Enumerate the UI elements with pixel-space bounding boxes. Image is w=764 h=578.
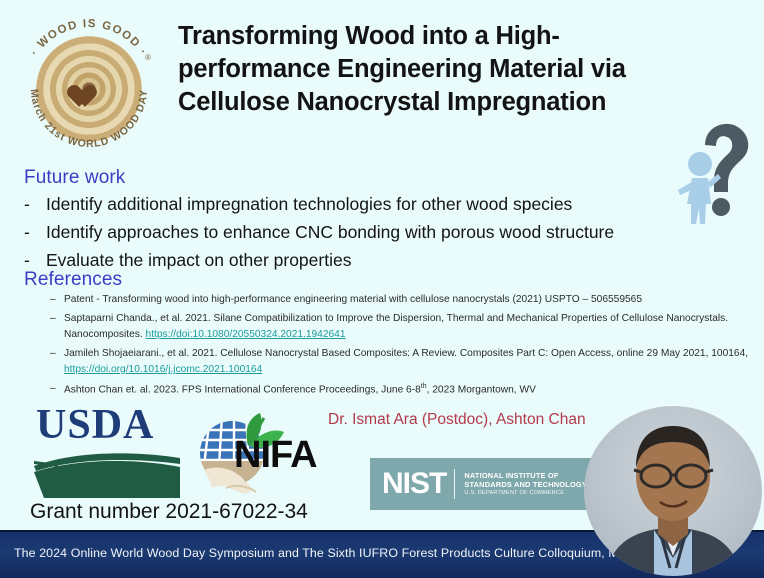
reference-item: – Jamileh Shojaeiarani., et al. 2021. Ce… <box>50 346 750 379</box>
nifa-logo: NIFA <box>186 408 318 502</box>
nist-line2: STANDARDS AND TECHNOLOGY <box>464 480 587 490</box>
future-work-item-label: Identify additional impregnation technol… <box>46 191 714 218</box>
bullet-marker: – <box>50 292 64 309</box>
bullet-marker: – <box>50 381 64 399</box>
reference-item: – Ashton Chan et. al. 2023. FPS Internat… <box>50 381 750 399</box>
nifa-wordmark: NIFA <box>234 436 317 474</box>
future-work-item: - Identify approaches to enhance CNC bon… <box>24 219 714 246</box>
grant-number: Grant number 2021-67022-34 <box>30 500 308 524</box>
nist-divider <box>454 469 455 499</box>
figure-head <box>688 152 712 176</box>
nist-wordmark: NIST <box>382 469 446 499</box>
svg-text:· WOOD IS GOOD ·: · WOOD IS GOOD · <box>29 18 150 58</box>
slide-title: Transforming Wood into a High-performanc… <box>178 20 698 119</box>
bullet-marker: - <box>24 219 46 246</box>
speaker-portrait <box>584 406 762 576</box>
usda-wordmark: USDA <box>36 404 154 446</box>
banner-text: The 2024 Online World Wood Day Symposium… <box>14 546 678 560</box>
future-work-item-label: Evaluate the impact on other properties <box>46 247 714 274</box>
svg-text:March 21st WORLD WOOD DAY: March 21st WORLD WOOD DAY <box>28 89 150 151</box>
bullet-marker: – <box>50 346 64 379</box>
reference-link[interactable]: https://doi.org/10.1016/j.jcomc.2021.100… <box>64 364 262 375</box>
usda-logo: USDA <box>32 404 182 500</box>
logo-bottom-arc-label: March 21st WORLD WOOD DAY <box>28 89 150 151</box>
authors-label: Dr. Ismat Ara (Postdoc), Ashton Chan <box>328 411 586 429</box>
nist-line1: NATIONAL INSTITUTE OF <box>464 471 587 481</box>
nist-line3: U.S. DEPARTMENT OF COMMERCE <box>464 490 587 497</box>
reference-text: Ashton Chan et. al. 2023. FPS Internatio… <box>64 384 421 395</box>
bullet-marker: – <box>50 311 64 344</box>
future-work-item: - Evaluate the impact on other propertie… <box>24 247 714 274</box>
future-work-item: - Identify additional impregnation techn… <box>24 191 714 218</box>
future-work-item-label: Identify approaches to enhance CNC bondi… <box>46 219 714 246</box>
world-wood-day-logo: · WOOD IS GOOD · March 21st WORLD WOOD D… <box>14 14 164 164</box>
reference-link[interactable]: https://doi:10.1080/20550324.2021.194264… <box>146 329 346 340</box>
references-list: – Patent - Transforming wood into high-p… <box>50 292 750 400</box>
reference-item: – Saptaparni Chanda., et al. 2021. Silan… <box>50 311 750 344</box>
references-heading: References <box>24 269 122 291</box>
nist-logo: NIST NATIONAL INSTITUTE OF STANDARDS AND… <box>370 458 620 510</box>
reference-text: Patent - Transforming wood into high-per… <box>64 292 750 309</box>
future-work-heading: Future work <box>24 167 125 189</box>
usda-field-graphic <box>32 448 182 500</box>
registered-mark: ® <box>145 53 151 62</box>
reference-text-tail: , 2023 Morgantown, WV <box>427 384 536 395</box>
logo-arc-text: · WOOD IS GOOD · March 21st WORLD WOOD D… <box>14 14 164 164</box>
future-work-list: - Identify additional impregnation techn… <box>24 191 714 275</box>
bullet-marker: - <box>24 191 46 218</box>
webcam-video-overlay[interactable] <box>584 406 762 576</box>
logo-top-arc-label: · WOOD IS GOOD · <box>29 18 150 58</box>
reference-item: – Patent - Transforming wood into high-p… <box>50 292 750 309</box>
reference-text: Jamileh Shojaeiarani., et al. 2021. Cell… <box>64 348 748 359</box>
